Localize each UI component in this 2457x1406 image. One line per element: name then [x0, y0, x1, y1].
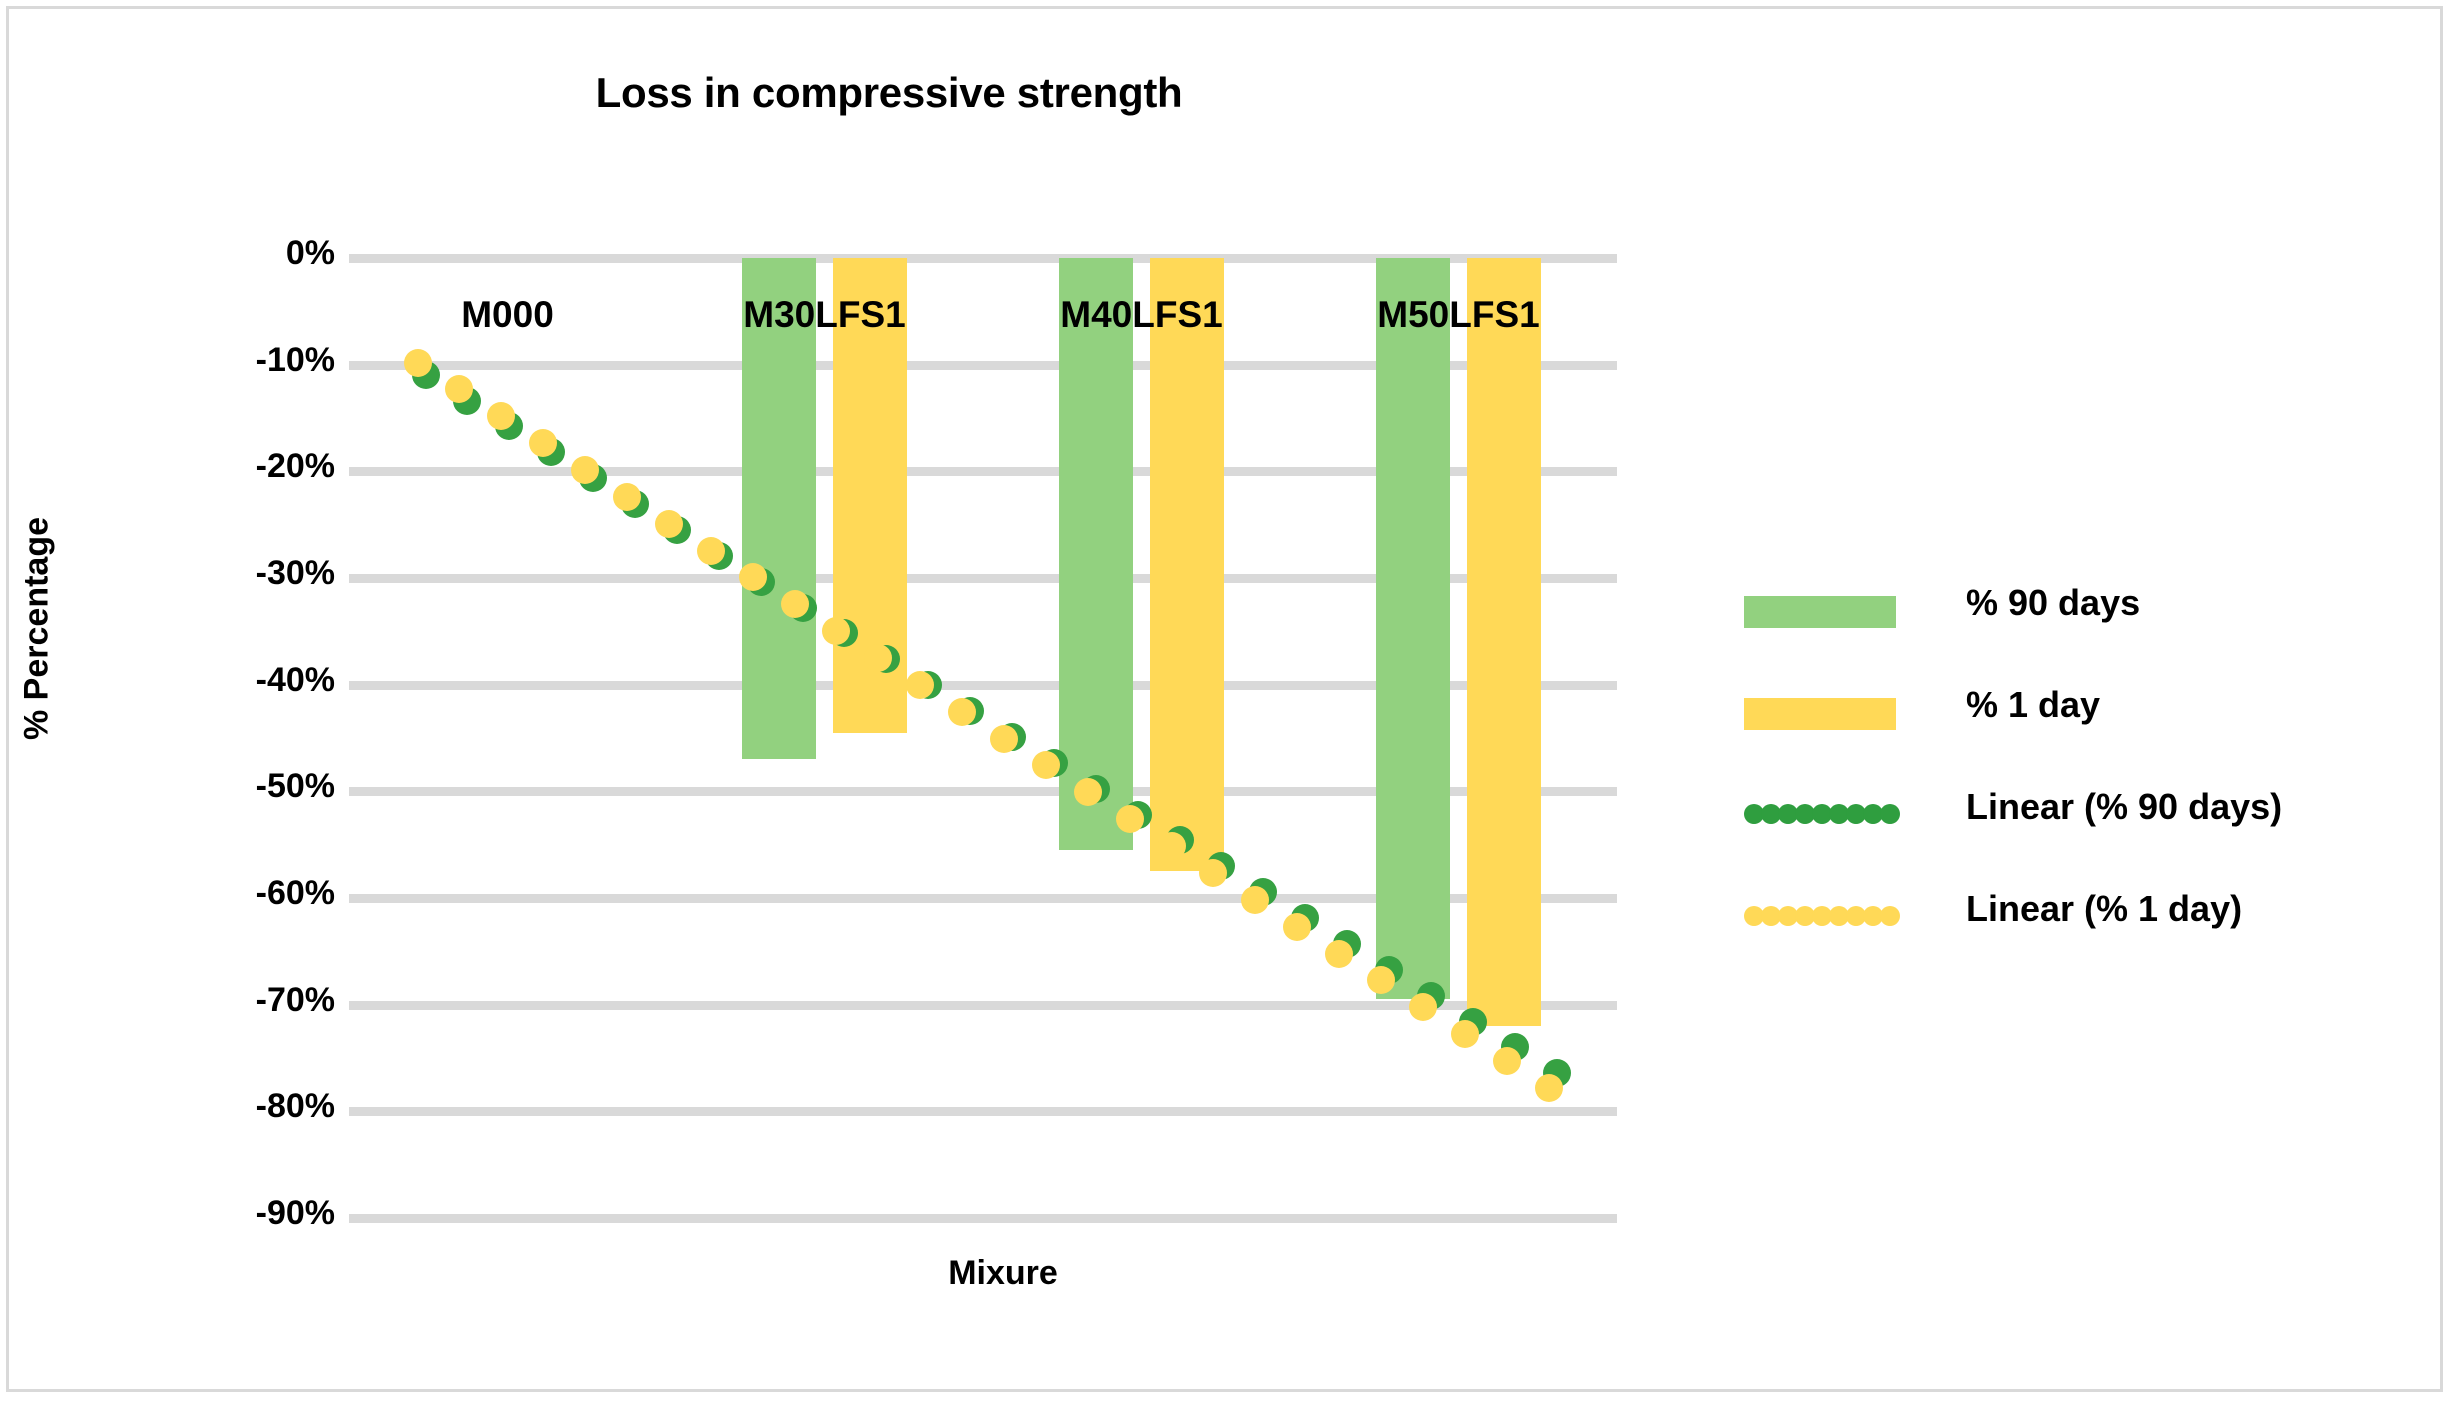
- trendline-dot: [1409, 993, 1437, 1021]
- legend-label: Linear (% 1 day): [1966, 888, 2242, 930]
- y-axis-title: % Percentage: [18, 369, 57, 889]
- chart-canvas[interactable]: Loss in compressive strength 0%-10%-20%-…: [9, 9, 2446, 1395]
- x-axis-title: Mixure: [703, 1254, 1303, 1293]
- legend-swatch-icon: [1744, 698, 1896, 730]
- chart-legend[interactable]: % 90 days% 1 dayLinear (% 90 days)Linear…: [1744, 574, 2384, 982]
- trendline-dot: [1325, 940, 1353, 968]
- category-label-m50lfs1: M50LFS1: [1279, 294, 1639, 336]
- legend-item-0[interactable]: % 90 days: [1744, 574, 2384, 676]
- trendline-dot: [1535, 1074, 1563, 1102]
- legend-dot: [1880, 804, 1900, 824]
- trendline-dot: [613, 483, 641, 511]
- trendline-dot: [1283, 913, 1311, 941]
- gridline: [349, 1107, 1617, 1116]
- bar-m40lfs1-90-days[interactable]: [1059, 258, 1133, 850]
- chart-title: Loss in compressive strength: [509, 69, 1269, 117]
- trendline-dot: [1116, 805, 1144, 833]
- chart-frame: Loss in compressive strength 0%-10%-20%-…: [6, 6, 2443, 1392]
- trendline-dot: [1199, 859, 1227, 887]
- y-axis-tick-label: -10%: [155, 341, 335, 380]
- legend-dotted-line-icon: [1744, 906, 1896, 928]
- y-axis-tick-label: -80%: [155, 1087, 335, 1126]
- trendline-dot: [1241, 886, 1269, 914]
- trendline-dot: [739, 563, 767, 591]
- trendline-dot: [781, 590, 809, 618]
- y-axis-tick-labels: 0%-10%-20%-30%-40%-50%-60%-70%-80%-90%: [149, 258, 335, 1218]
- legend-label: % 90 days: [1966, 582, 2140, 624]
- legend-item-1[interactable]: % 1 day: [1744, 676, 2384, 778]
- trendline-dot: [906, 671, 934, 699]
- y-axis-tick-label: -60%: [155, 874, 335, 913]
- category-label-m000: M000: [328, 294, 688, 336]
- trendline-dot: [1493, 1047, 1521, 1075]
- y-axis-tick-label: -70%: [155, 981, 335, 1020]
- legend-label: % 1 day: [1966, 684, 2100, 726]
- y-axis-tick-label: -20%: [155, 447, 335, 486]
- y-axis-tick-label: -30%: [155, 554, 335, 593]
- bar-m50lfs1-1-day[interactable]: [1467, 258, 1541, 1026]
- legend-item-3[interactable]: Linear (% 1 day): [1744, 880, 2384, 982]
- trendline-dot: [1074, 778, 1102, 806]
- trendline-dot: [1158, 832, 1186, 860]
- trendline-dot: [990, 725, 1018, 753]
- trendline-dot: [948, 698, 976, 726]
- gridline: [349, 1214, 1617, 1223]
- legend-dot: [1880, 906, 1900, 926]
- legend-label: Linear (% 90 days): [1966, 786, 2282, 828]
- y-axis-tick-label: -90%: [155, 1194, 335, 1233]
- bar-m40lfs1-1-day[interactable]: [1150, 258, 1224, 871]
- trendline-dot: [655, 510, 683, 538]
- y-axis-tick-label: -40%: [155, 661, 335, 700]
- y-axis-tick-label: -50%: [155, 767, 335, 806]
- y-axis-tick-label: 0%: [155, 234, 335, 273]
- legend-dotted-line-icon: [1744, 804, 1896, 826]
- trendline-dot: [1451, 1020, 1479, 1048]
- legend-item-2[interactable]: Linear (% 90 days): [1744, 778, 2384, 880]
- plot-area[interactable]: M000M30LFS1M40LFS1M50LFS1: [349, 258, 1617, 1218]
- category-label-m30lfs1: M30LFS1: [645, 294, 1005, 336]
- trendline-dot: [404, 349, 432, 377]
- category-label-m40lfs1: M40LFS1: [962, 294, 1322, 336]
- trendline-dot: [571, 456, 599, 484]
- trendline-dot: [697, 537, 725, 565]
- legend-swatch-icon: [1744, 596, 1896, 628]
- bar-m50lfs1-90-days[interactable]: [1376, 258, 1450, 999]
